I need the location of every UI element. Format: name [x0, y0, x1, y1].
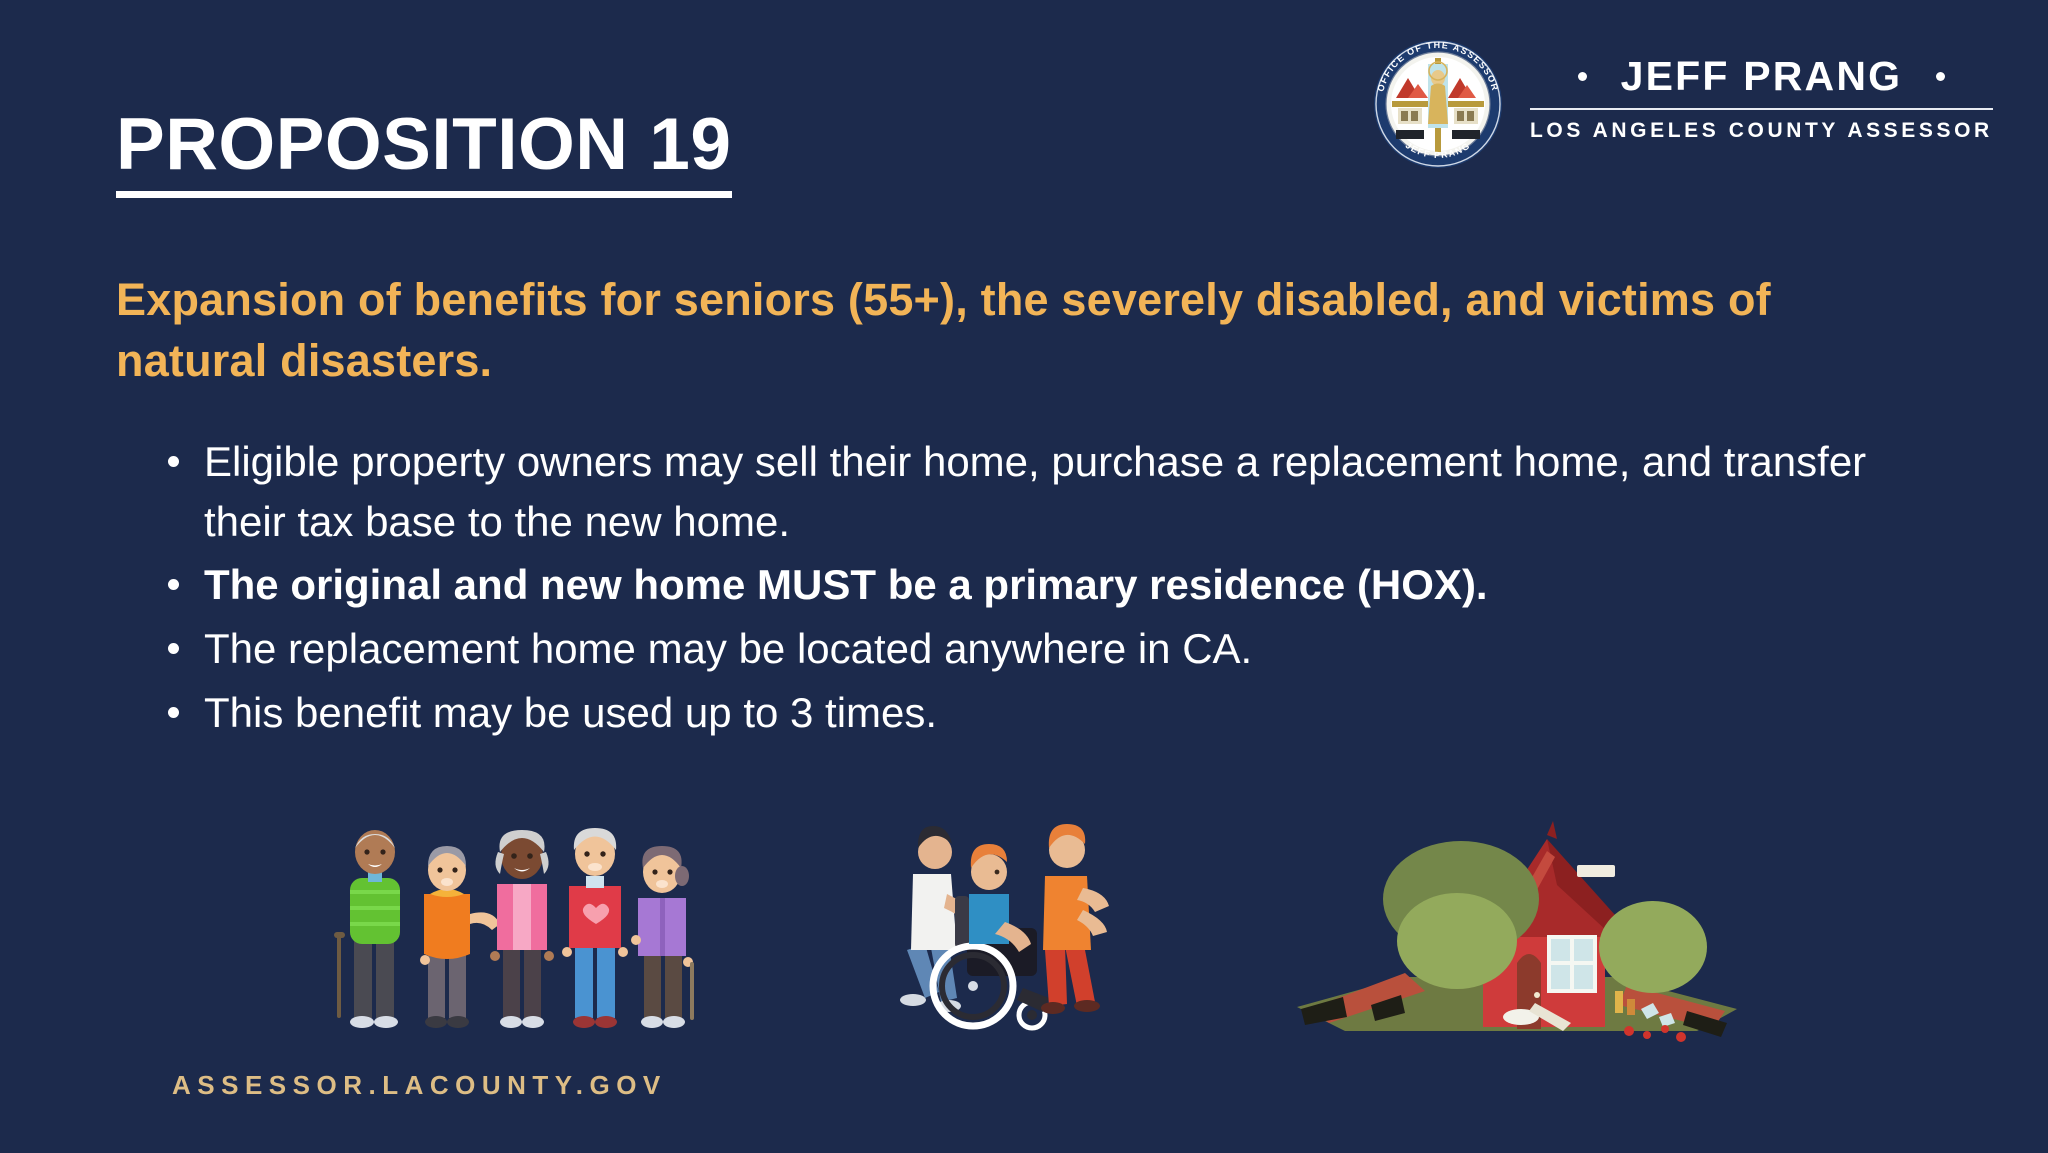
- list-item: This benefit may be used up to 3 times.: [168, 683, 1968, 743]
- bullet-dot-right-icon: [1936, 72, 1945, 81]
- footer-website-url[interactable]: ASSESSOR.LACOUNTY.GOV: [172, 1070, 667, 1101]
- list-item-label: The replacement home may be located anyw…: [204, 619, 1924, 679]
- brand-lockup: OFFICE OF THE ASSESSOR JEFF PRANG JEFF P…: [1372, 38, 1993, 170]
- seniors-group-illustration: [330, 810, 720, 1045]
- list-item-label: The original and new home MUST be a prim…: [204, 555, 1924, 615]
- illustration-row: [0, 805, 2048, 1045]
- page-title: PROPOSITION 19: [116, 108, 732, 181]
- la-county-assessor-seal-icon: OFFICE OF THE ASSESSOR JEFF PRANG: [1372, 38, 1504, 170]
- bullet-dot-icon: [168, 456, 179, 467]
- bullet-dot-icon: [168, 579, 179, 590]
- list-item-label: This benefit may be used up to 3 times.: [204, 683, 1924, 743]
- title-underline: [116, 191, 732, 198]
- assessor-name: JEFF PRANG: [1621, 56, 1903, 97]
- assessor-office-label: LOS ANGELES COUNTY ASSESSOR: [1530, 119, 1993, 143]
- bullet-list: Eligible property owners may sell their …: [168, 432, 1968, 746]
- list-item: The replacement home may be located anyw…: [168, 619, 1968, 679]
- presentation-slide: OFFICE OF THE ASSESSOR JEFF PRANG JEFF P…: [0, 0, 2048, 1153]
- bullet-dot-icon: [168, 643, 179, 654]
- disaster-home-illustration: [1285, 795, 1750, 1045]
- slide-subtitle: Expansion of benefits for seniors (55+),…: [116, 270, 1906, 392]
- list-item: Eligible property owners may sell their …: [168, 432, 1968, 551]
- brand-text-block: JEFF PRANG LOS ANGELES COUNTY ASSESSOR: [1530, 56, 1993, 143]
- brand-divider: [1530, 108, 1993, 110]
- bullet-dot-left-icon: [1578, 72, 1587, 81]
- brand-name-row: JEFF PRANG: [1578, 56, 1946, 97]
- list-item: The original and new home MUST be a prim…: [168, 555, 1968, 615]
- list-item-label: Eligible property owners may sell their …: [204, 432, 1924, 551]
- bullet-dot-icon: [168, 707, 179, 718]
- wheelchair-group-illustration: [895, 810, 1145, 1045]
- page-title-block: PROPOSITION 19: [116, 108, 732, 198]
